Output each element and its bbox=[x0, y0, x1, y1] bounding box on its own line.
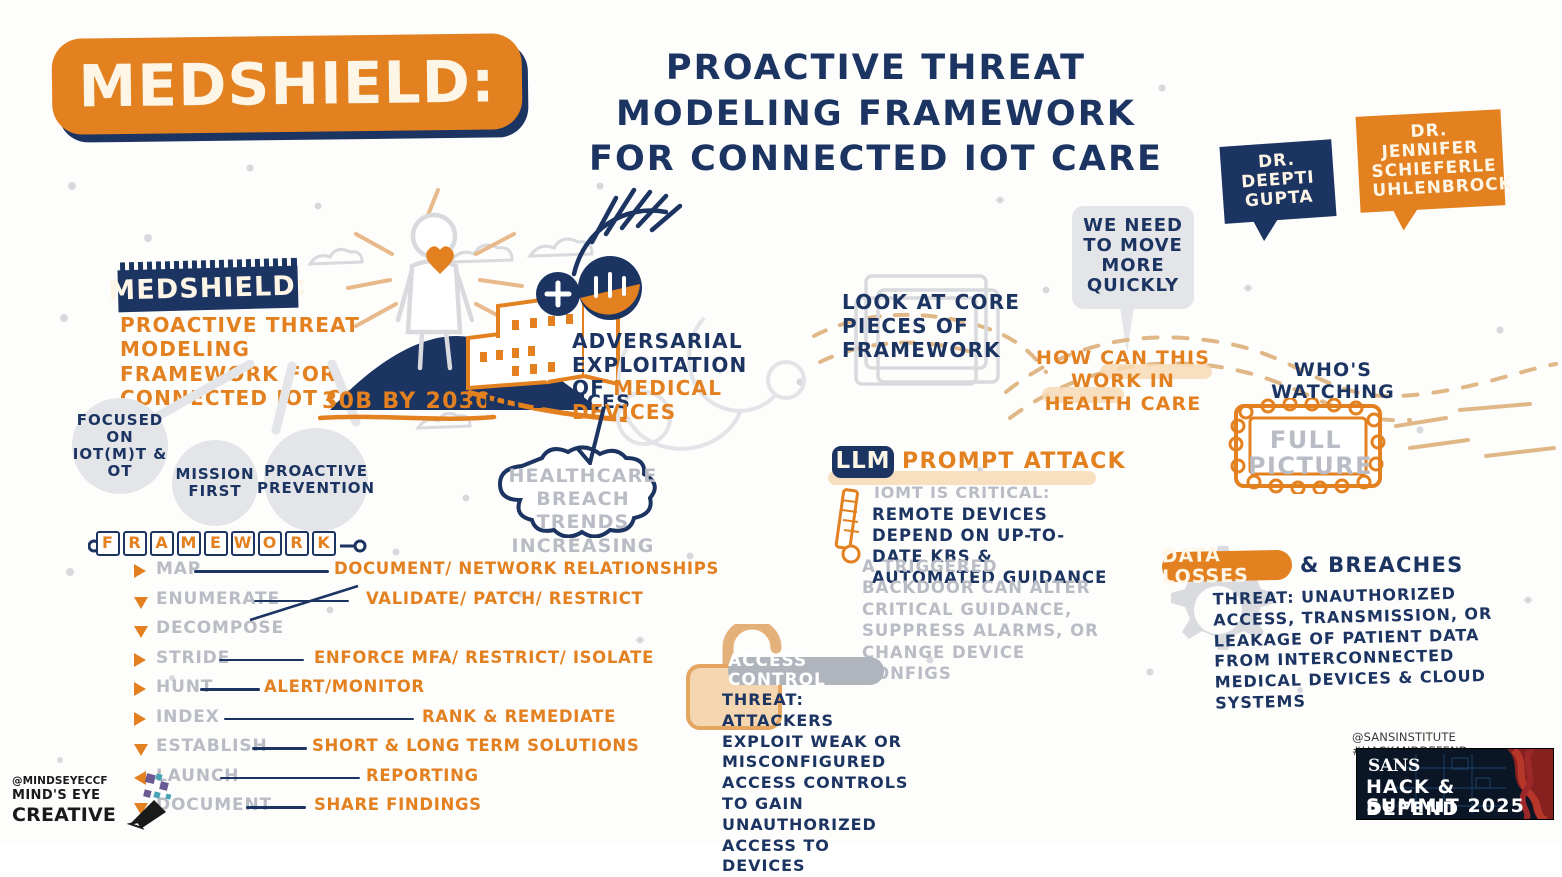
credit-line-1: MIND'S EYE bbox=[12, 788, 132, 803]
data-losses-body: THREAT: UNAUTHORIZED ACCESS, TRANSMISSIO… bbox=[1213, 582, 1516, 714]
full-picture-text: FULL PICTURE bbox=[1248, 427, 1364, 480]
framework-letter: A bbox=[150, 531, 174, 556]
sans-wordmark: SANS bbox=[1368, 756, 1420, 776]
artist-credit: @MINDSEYECCF MIND'S EYE CREATIVE bbox=[12, 775, 132, 826]
framework-letter: M bbox=[177, 531, 201, 556]
llm-subhead: IoMT IS CRITICAL: bbox=[874, 484, 1050, 502]
breach-cloud-text: HEALTHCARE BREACH TRENDS INCREASING bbox=[508, 465, 658, 558]
title-badge-text: MEDSHIELD: bbox=[78, 49, 496, 119]
framework-term: INDEX bbox=[156, 708, 220, 727]
connector-line bbox=[246, 806, 306, 809]
framework-desc: DOCUMENT/ NETWORK RELATIONSHIPS bbox=[334, 560, 719, 578]
connector-line bbox=[194, 570, 329, 573]
framework-letter: F bbox=[96, 531, 120, 556]
connector-line bbox=[219, 659, 304, 662]
framework-row-map: MAP DOCUMENT/ NETWORK RELATIONSHIPS bbox=[134, 558, 834, 588]
quote-bubble-move-quickly: WE NEED TO MOVE MORE QUICKLY bbox=[1072, 206, 1194, 309]
stat-30b-by-2030: 30B BY 2030 bbox=[322, 390, 492, 415]
full-picture-line-2: PICTURE bbox=[1248, 453, 1364, 479]
framework-cross-connector bbox=[246, 580, 366, 626]
framework-desc: ALERT/MONITOR bbox=[264, 678, 425, 696]
callout-3-text: PROACTIVE PREVENTION bbox=[257, 463, 375, 497]
access-control-pill: ACCESS CONTROL bbox=[728, 657, 884, 685]
quote-line-1: WE NEED bbox=[1080, 216, 1186, 236]
data-losses-pill: DATA LOSSES bbox=[1162, 550, 1293, 583]
callout-focused-iomt: FOCUSED ON IoT(M)T & OT bbox=[72, 398, 168, 494]
speech-tail-icon bbox=[1392, 208, 1419, 231]
framework-letter: R bbox=[123, 531, 147, 556]
medshield-badge-text: MEDSHIELD: bbox=[108, 271, 308, 306]
callout-proactive-prevention: PROACTIVE PREVENTION bbox=[264, 428, 368, 532]
triangle-bullet-icon bbox=[134, 712, 146, 726]
framework-desc: SHARE FINDINGS bbox=[314, 796, 482, 814]
framework-header: F R A M E W O R K bbox=[96, 528, 339, 558]
framework-letter: R bbox=[285, 531, 309, 556]
access-control-pill-text: ACCESS CONTROL bbox=[728, 652, 884, 690]
full-picture-line-1: FULL bbox=[1248, 427, 1364, 453]
look-at-core-text: LOOK AT CORE PIECES OF FRAMEWORK bbox=[842, 290, 1022, 362]
pencil-logo-icon bbox=[124, 772, 180, 830]
access-control-body: THREAT: ATTACKERS EXPLOIT WEAK OR MISCON… bbox=[722, 690, 918, 877]
triangle-bullet-icon bbox=[134, 564, 146, 578]
breach-cloud-tail bbox=[560, 405, 630, 465]
sans-logo-line-2: SUMMIT 2025 bbox=[1366, 795, 1525, 817]
sans-summit-logo: SANS HACK & DEFEND SUMMIT 2025 bbox=[1356, 748, 1554, 820]
speaker-2-line3: UHLENBROCK bbox=[1372, 176, 1492, 201]
triangle-bullet-icon bbox=[134, 682, 146, 696]
speech-tail-icon bbox=[1253, 218, 1280, 242]
framework-desc: RANK & REMEDIATE bbox=[422, 708, 616, 726]
framework-letter: E bbox=[204, 531, 228, 556]
triangle-bullet-icon bbox=[134, 653, 146, 667]
quote-line-2: TO MOVE bbox=[1080, 236, 1186, 256]
credit-line-2: CREATIVE bbox=[12, 804, 132, 826]
data-losses-suffix: & BREACHES bbox=[1300, 554, 1463, 578]
triangle-bullet-icon bbox=[134, 626, 148, 638]
llm-note-text: A TRIGGERED BACKDOOR CAN ALTER CRITICAL … bbox=[862, 556, 1110, 685]
llm-title: PROMPT ATTACK bbox=[902, 450, 1126, 475]
quote-line-3: MORE bbox=[1080, 256, 1186, 276]
title-banner: MEDSHIELD: bbox=[51, 33, 522, 135]
credit-handle: @MINDSEYECCF bbox=[12, 775, 132, 787]
connector-line bbox=[252, 747, 307, 750]
stat-underline bbox=[318, 412, 498, 424]
page-headline: PROACTIVE THREAT MODELING FRAMEWORK FOR … bbox=[556, 46, 1196, 183]
callout-2-text: MISSION FIRST bbox=[172, 466, 258, 500]
frame-speed-lines bbox=[1390, 400, 1560, 480]
triangle-bullet-icon bbox=[134, 597, 148, 609]
framework-letter: W bbox=[231, 531, 255, 556]
connector-line bbox=[224, 718, 414, 721]
framework-desc: ENFORCE MFA/ RESTRICT/ ISOLATE bbox=[314, 649, 654, 667]
llm-pill: LLM bbox=[832, 446, 894, 478]
framework-letter: K bbox=[312, 531, 336, 556]
speaker-badge-gupta: DR. DEEPTI GUPTA bbox=[1219, 139, 1336, 224]
framework-row-enumerate: ENUMERATE VALIDATE/ PATCH/ RESTRICT bbox=[134, 588, 834, 618]
sketchnote-canvas: MEDSHIELD: PROACTIVE THREAT MODELING FRA… bbox=[0, 0, 1562, 846]
connector-line bbox=[220, 777, 360, 780]
framework-desc: VALIDATE/ PATCH/ RESTRICT bbox=[366, 590, 643, 608]
callout-1-text: FOCUSED ON IoT(M)T & OT bbox=[72, 412, 168, 480]
data-losses-pill-text: DATA LOSSES bbox=[1162, 543, 1293, 588]
framework-desc: SHORT & LONG TERM SOLUTIONS bbox=[312, 737, 639, 755]
speaker-1-line2: GUPTA bbox=[1236, 187, 1323, 212]
medshield-badge: MEDSHIELD: bbox=[117, 266, 298, 313]
how-can-this-work-text: HOW CAN THIS WORK IN HEALTH CARE bbox=[1030, 347, 1216, 415]
callout-mission-first: MISSION FIRST bbox=[172, 440, 258, 526]
framework-desc: REPORTING bbox=[366, 767, 479, 785]
triangle-bullet-icon bbox=[134, 744, 148, 756]
quote-line-4: QUICKLY bbox=[1080, 276, 1186, 296]
llm-pill-text: LLM bbox=[835, 449, 890, 475]
connector-line bbox=[200, 688, 260, 691]
framework-term: ESTABLISH bbox=[156, 737, 268, 756]
framework-letter: O bbox=[258, 531, 282, 556]
headline-line-1: PROACTIVE THREAT MODELING FRAMEWORK bbox=[556, 46, 1196, 137]
llm-marker-icon bbox=[834, 488, 868, 566]
speaker-badge-uhlenbrock: DR. JENNIFER SCHIEFERLE UHLENBROCK bbox=[1356, 109, 1506, 213]
